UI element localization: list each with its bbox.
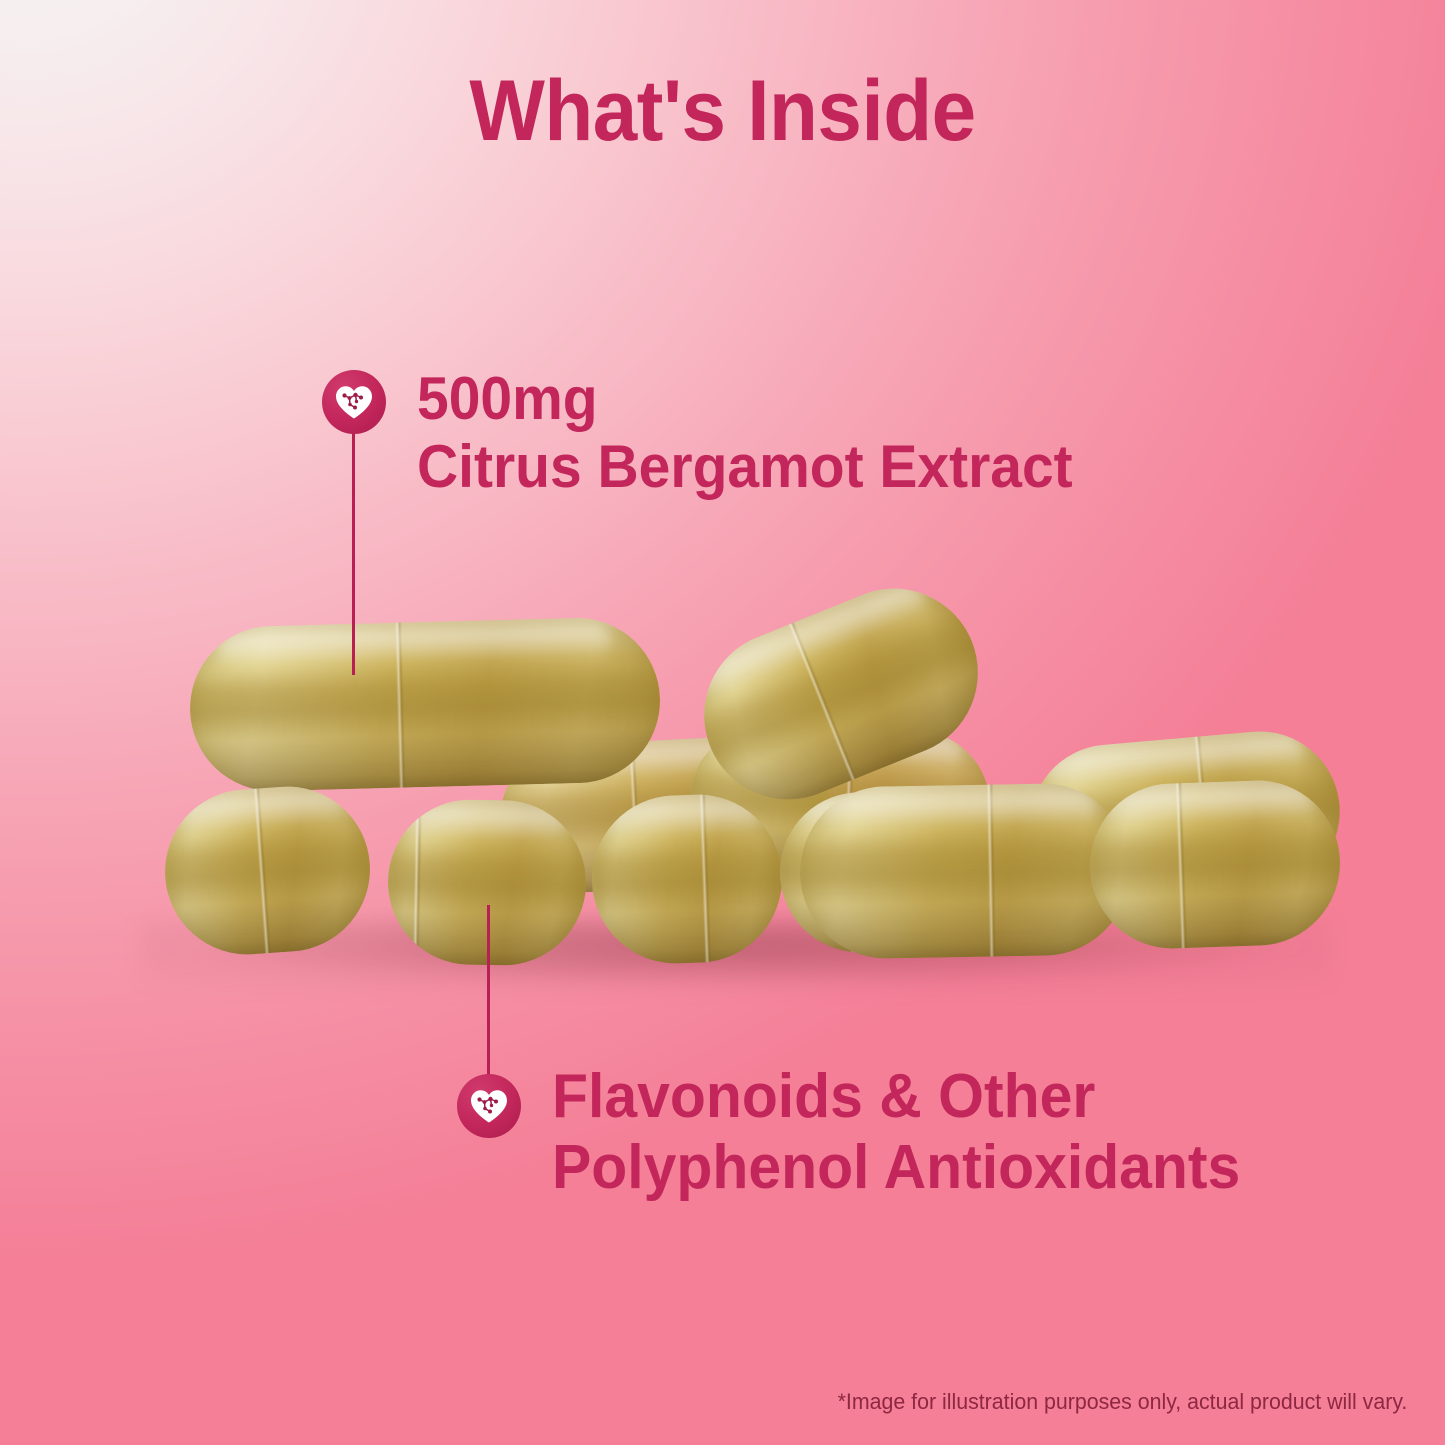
callout-1-line-1: 500mg: [417, 365, 1073, 433]
infographic-panel: What's Inside: [0, 0, 1445, 1445]
callout-2-badge: [457, 1074, 521, 1138]
heart-molecule-icon: [335, 385, 373, 419]
callout-1-text: 500mg Citrus Bergamot Extract: [417, 365, 1073, 502]
callout-1-line-2: Citrus Bergamot Extract: [417, 433, 1073, 501]
callout-2-line-1: Flavonoids & Other: [552, 1062, 1240, 1133]
callout-1-badge: [322, 370, 386, 434]
callout-2-text: Flavonoids & Other Polyphenol Antioxidan…: [552, 1062, 1240, 1203]
heart-molecule-icon: [470, 1089, 508, 1123]
capsule-bottom-6: [1087, 778, 1343, 952]
callout-1-leader-line: [352, 430, 355, 675]
page-title: What's Inside: [51, 62, 1395, 161]
product-image: [0, 560, 1445, 1020]
callout-2-leader-line: [487, 905, 490, 1095]
capsule-bottom-5: [799, 782, 1132, 960]
callout-2-line-2: Polyphenol Antioxidants: [552, 1133, 1240, 1204]
disclaimer-text: *Image for illustration purposes only, a…: [837, 1389, 1407, 1415]
capsule-top-left: [188, 616, 662, 793]
